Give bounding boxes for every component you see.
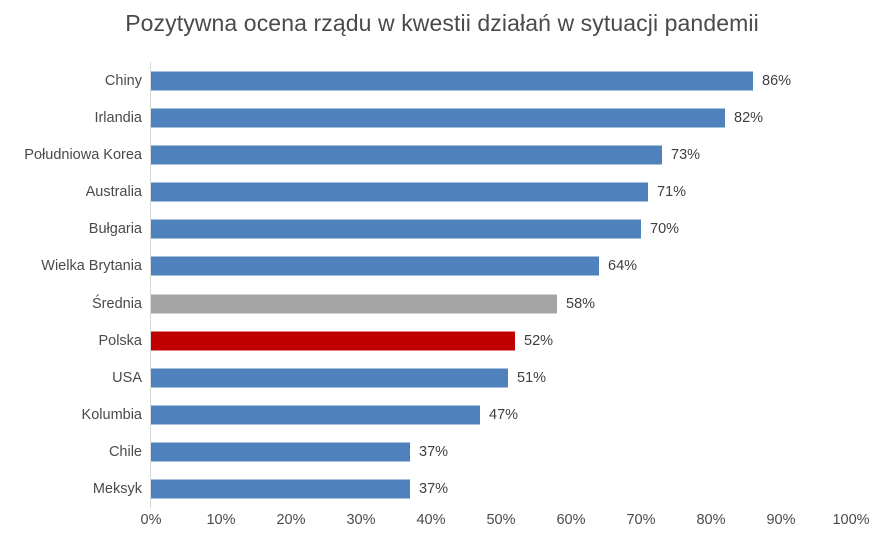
- category-label: Irlandia: [94, 110, 142, 126]
- bar-value-label: 37%: [410, 481, 448, 497]
- bar-default[interactable]: [151, 183, 648, 202]
- bar-default[interactable]: [151, 108, 725, 127]
- bar-value-label: 58%: [557, 296, 595, 312]
- chart-row: Chiny86%: [151, 62, 851, 99]
- x-tick-label: 10%: [206, 512, 235, 528]
- bar-default[interactable]: [151, 145, 662, 164]
- chart-title: Pozytywna ocena rządu w kwestii działań …: [0, 10, 884, 37]
- bar-default[interactable]: [151, 220, 641, 239]
- chart-row: Chile37%: [151, 434, 851, 471]
- x-tick-label: 80%: [696, 512, 725, 528]
- bar-value-label: 82%: [725, 110, 763, 126]
- chart-row: Wielka Brytania64%: [151, 248, 851, 285]
- bar-default[interactable]: [151, 368, 508, 387]
- bar-value-label: 37%: [410, 444, 448, 460]
- chart-container: Pozytywna ocena rządu w kwestii działań …: [0, 0, 884, 551]
- x-tick-label: 40%: [416, 512, 445, 528]
- category-label: Średnia: [92, 296, 142, 312]
- x-tick-label: 20%: [276, 512, 305, 528]
- chart-row: Południowa Korea73%: [151, 136, 851, 173]
- category-label: Wielka Brytania: [41, 258, 142, 274]
- category-label: Australia: [86, 184, 142, 200]
- x-axis-tick-labels: 0%10%20%30%40%50%60%70%80%90%100%: [151, 512, 851, 536]
- bar-value-label: 86%: [753, 73, 791, 89]
- chart-row: Australia71%: [151, 174, 851, 211]
- x-tick-label: 50%: [486, 512, 515, 528]
- bar-value-label: 71%: [648, 184, 686, 200]
- chart-row: USA51%: [151, 359, 851, 396]
- category-label: Meksyk: [93, 481, 142, 497]
- bar-average[interactable]: [151, 294, 557, 313]
- bar-default[interactable]: [151, 406, 480, 425]
- bar-default[interactable]: [151, 257, 599, 276]
- x-tick-label: 70%: [626, 512, 655, 528]
- bar-default[interactable]: [151, 71, 753, 90]
- chart-row: Polska52%: [151, 322, 851, 359]
- bar-value-label: 73%: [662, 147, 700, 163]
- bar-value-label: 52%: [515, 333, 553, 349]
- bar-default[interactable]: [151, 443, 410, 462]
- bar-highlight[interactable]: [151, 331, 515, 350]
- category-label: Chiny: [105, 73, 142, 89]
- bar-value-label: 51%: [508, 370, 546, 386]
- x-tick-label: 90%: [766, 512, 795, 528]
- bar-value-label: 70%: [641, 221, 679, 237]
- chart-row: Meksyk37%: [151, 471, 851, 508]
- x-tick-label: 0%: [141, 512, 162, 528]
- bar-default[interactable]: [151, 480, 410, 499]
- category-label: Bułgaria: [89, 221, 142, 237]
- category-label: Kolumbia: [82, 407, 142, 423]
- chart-row: Kolumbia47%: [151, 397, 851, 434]
- bar-value-label: 64%: [599, 258, 637, 274]
- chart-row: Bułgaria70%: [151, 211, 851, 248]
- category-label: Polska: [98, 333, 142, 349]
- chart-row: Irlandia82%: [151, 99, 851, 136]
- plot-area: Chiny86%Irlandia82%Południowa Korea73%Au…: [151, 62, 851, 508]
- category-label: Chile: [109, 444, 142, 460]
- chart-row: Średnia58%: [151, 285, 851, 322]
- bar-value-label: 47%: [480, 407, 518, 423]
- x-tick-label: 30%: [346, 512, 375, 528]
- x-tick-label: 60%: [556, 512, 585, 528]
- category-label: USA: [112, 370, 142, 386]
- category-label: Południowa Korea: [24, 147, 142, 163]
- x-tick-label: 100%: [832, 512, 869, 528]
